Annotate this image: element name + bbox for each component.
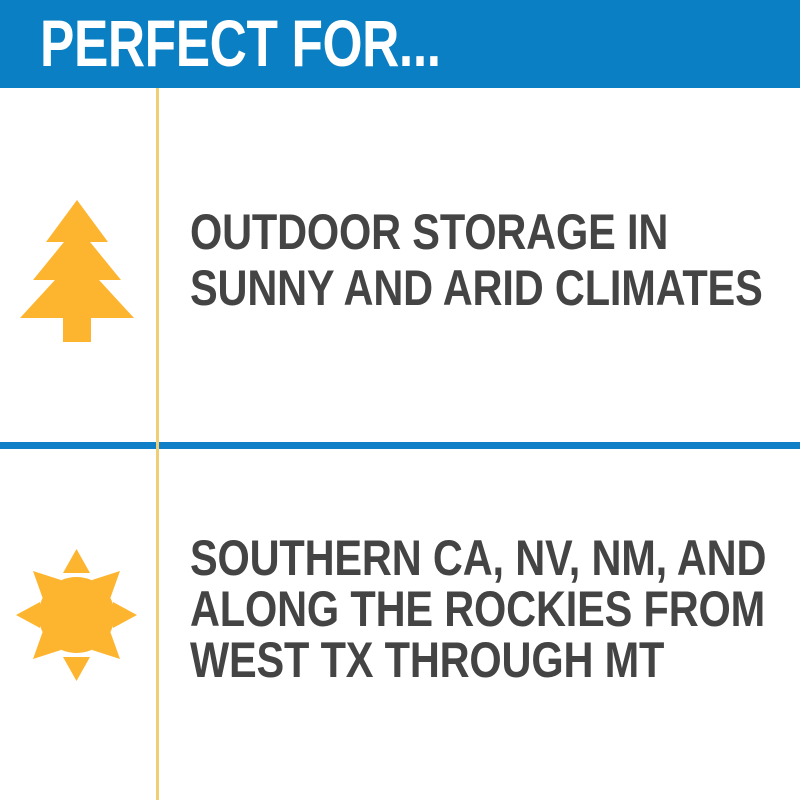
section-regions-line-1: SOUTHERN CA, NV, NM, AND [190, 533, 766, 584]
section-divider-horizontal [0, 442, 800, 449]
sun-icon [16, 549, 137, 681]
perfect-for-infographic: PERFECT FOR... OUTDOOR STORAGE IN SUNNY … [0, 0, 800, 800]
section-climate: OUTDOOR STORAGE IN SUNNY AND ARID CLIMAT… [0, 88, 800, 442]
pine-tree-icon [20, 200, 134, 342]
section-climate-line-1: OUTDOOR STORAGE IN [190, 204, 763, 260]
section-regions-text: SOUTHERN CA, NV, NM, AND ALONG THE ROCKI… [190, 533, 766, 686]
page-title: PERFECT FOR... [40, 6, 441, 80]
column-divider-vertical [156, 88, 159, 800]
section-climate-text: OUTDOOR STORAGE IN SUNNY AND ARID CLIMAT… [190, 204, 763, 316]
section-regions-line-3: WEST TX THROUGH MT [190, 635, 766, 686]
section-regions: SOUTHERN CA, NV, NM, AND ALONG THE ROCKI… [0, 449, 800, 800]
section-climate-icon-cell [0, 88, 156, 442]
section-climate-line-2: SUNNY AND ARID CLIMATES [190, 260, 763, 316]
section-regions-text-cell: SOUTHERN CA, NV, NM, AND ALONG THE ROCKI… [190, 449, 790, 800]
section-regions-line-2: ALONG THE ROCKIES FROM [190, 584, 766, 635]
header-band: PERFECT FOR... [0, 0, 800, 88]
section-climate-text-cell: OUTDOOR STORAGE IN SUNNY AND ARID CLIMAT… [190, 88, 790, 442]
section-regions-icon-cell [0, 449, 156, 800]
